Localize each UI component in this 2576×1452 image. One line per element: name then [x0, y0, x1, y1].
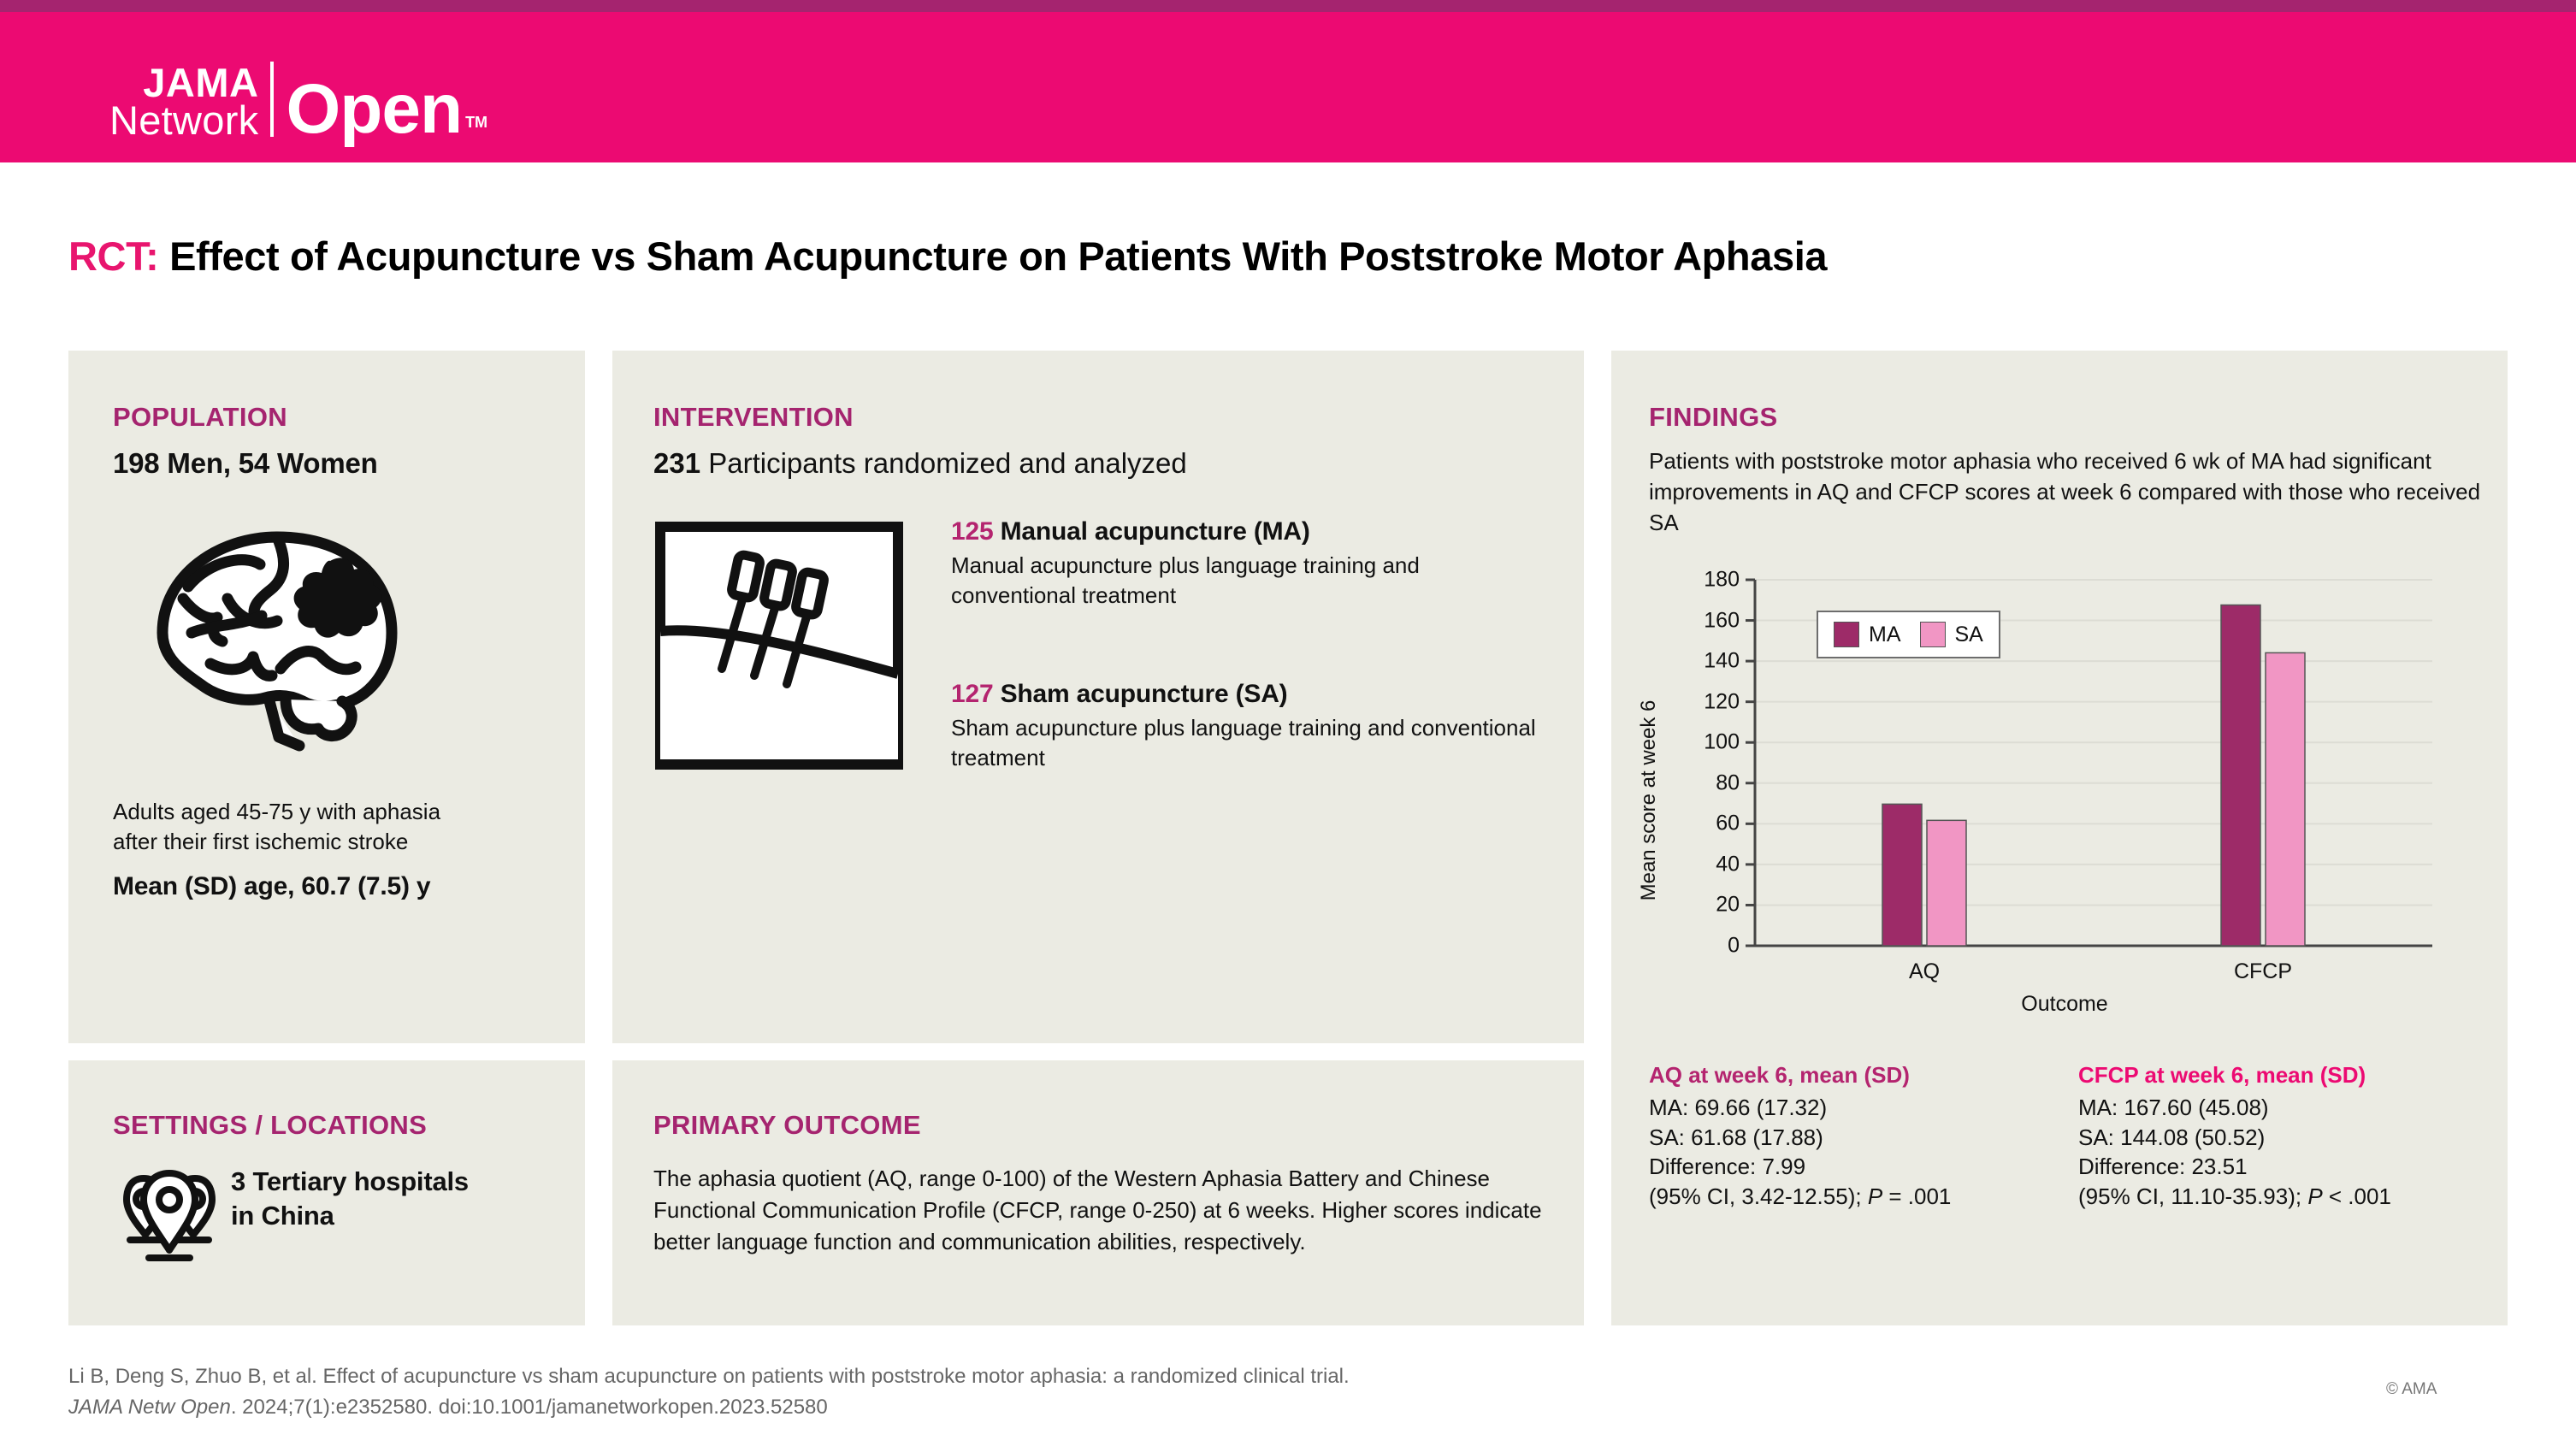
population-kicker: POPULATION: [113, 402, 287, 433]
copyright-notice: © AMA: [2386, 1380, 2437, 1399]
y-tick-label: 80: [1654, 770, 1740, 795]
stats-aq-ma: MA: 69.66 (17.32): [1649, 1093, 2077, 1123]
bar-sa-cfcp: [2266, 652, 2305, 946]
infographic-root: JAMA Network Open TM RCT: Effect of Acup…: [0, 0, 2576, 1452]
logo-jama-text: JAMA: [143, 64, 258, 103]
title-rct-label: RCT:: [68, 233, 158, 279]
arm-sa-name: Sham acupuncture (SA): [993, 680, 1287, 708]
citation-journal-name: JAMA Netw Open: [68, 1396, 231, 1419]
jama-header-bar: JAMA Network Open TM: [0, 12, 2576, 162]
legend-label-sa: SA: [1955, 623, 1983, 647]
intervention-participant-label: Participants randomized and analyzed: [700, 447, 1187, 479]
findings-kicker: FINDINGS: [1649, 402, 1778, 433]
y-tick-label: 120: [1654, 689, 1740, 714]
arm-ma-name: Manual acupuncture (MA): [993, 517, 1309, 546]
y-axis-label: Mean score at week 6: [1637, 700, 1661, 901]
bar-ma-cfcp: [2221, 605, 2260, 946]
stats-aq-p-value: = .001: [1882, 1183, 1951, 1209]
settings-kicker: SETTINGS / LOCATIONS: [113, 1110, 427, 1141]
primary-outcome-kicker: PRIMARY OUTCOME: [653, 1110, 921, 1141]
stats-cfcp-ma: MA: 167.60 (45.08): [2078, 1093, 2506, 1123]
intervention-arm-sa: 127 Sham acupuncture (SA) Sham acupunctu…: [951, 680, 1541, 772]
logo-trademark-text: TM: [465, 114, 487, 132]
intervention-participants: 231 Participants randomized and analyzed: [653, 447, 1187, 480]
x-axis-label: Outcome: [1654, 992, 2475, 1017]
intervention-arm-ma: 125 Manual acupuncture (MA) Manual acupu…: [951, 517, 1541, 610]
population-mean-age: Mean (SD) age, 60.7 (7.5) y: [113, 872, 430, 901]
x-tick-label-aq: AQ: [1909, 959, 1940, 984]
arm-sa-description: Sham acupuncture plus language training …: [951, 713, 1541, 772]
y-tick-label: 180: [1654, 568, 1740, 593]
logo-open-text: Open: [286, 79, 462, 140]
stats-cfcp-difference: Difference: 23.51: [2078, 1152, 2506, 1182]
map-pin-group-icon: [118, 1161, 221, 1277]
findings-panel: FINDINGS Patients with poststroke motor …: [1611, 351, 2508, 1325]
stats-aq-p-symbol: P: [1868, 1183, 1882, 1209]
arm-ma-count: 125: [951, 517, 993, 546]
logo-divider: [270, 62, 274, 137]
brain-with-lesion-icon: [109, 505, 434, 782]
stats-cfcp-p-symbol: P: [2307, 1183, 2322, 1209]
y-tick-label: 140: [1654, 649, 1740, 674]
intervention-participant-count: 231: [653, 447, 700, 479]
stats-cfcp-ci-text: (95% CI, 11.10-35.93);: [2078, 1183, 2307, 1209]
y-tick-label: 40: [1654, 852, 1740, 877]
legend-swatch-sa: [1920, 622, 1946, 647]
logo-network-text: Network: [109, 102, 258, 140]
stats-aq-heading: AQ at week 6, mean (SD): [1649, 1060, 2077, 1090]
population-count: 198 Men, 54 Women: [113, 447, 378, 480]
y-tick-label: 100: [1654, 730, 1740, 755]
mean-score-bar-chart: 020406080100120140160180AQCFCPMean score…: [1654, 564, 2475, 1026]
y-tick-label: 160: [1654, 608, 1740, 633]
chart-legend: MASA: [1817, 611, 2000, 658]
bar-ma-aq: [1882, 804, 1922, 946]
legend-item-ma: MA: [1834, 622, 1901, 647]
citation: Li B, Deng S, Zhuo B, et al. Effect of a…: [68, 1361, 1350, 1423]
jama-network-open-logo[interactable]: JAMA Network Open TM: [109, 62, 487, 140]
chart-canvas: 020406080100120140160180AQCFCPMean score…: [1654, 564, 2475, 1026]
intervention-kicker: INTERVENTION: [653, 402, 854, 433]
y-tick-label: 20: [1654, 893, 1740, 918]
legend-swatch-ma: [1834, 622, 1859, 647]
stats-aq-sa: SA: 61.68 (17.88): [1649, 1123, 2077, 1153]
bar-sa-aq: [1927, 820, 1966, 946]
stats-aq-difference: Difference: 7.99: [1649, 1152, 2077, 1182]
stats-cfcp-sa: SA: 144.08 (50.52): [2078, 1123, 2506, 1153]
settings-locations-panel: SETTINGS / LOCATIONS 3 Tertiary hospital…: [68, 1060, 585, 1325]
stats-aq-ci-text: (95% CI, 3.42-12.55);: [1649, 1183, 1868, 1209]
arm-ma-heading: 125 Manual acupuncture (MA): [951, 517, 1541, 546]
stats-cfcp: CFCP at week 6, mean (SD) MA: 167.60 (45…: [2078, 1060, 2506, 1212]
y-tick-label: 0: [1654, 934, 1740, 959]
arm-sa-count: 127: [951, 680, 993, 708]
acupuncture-needles-icon: [655, 522, 903, 774]
settings-text: 3 Tertiary hospitals in China: [231, 1165, 469, 1232]
population-panel: POPULATION 198 Men, 54 Women: [68, 351, 585, 1043]
findings-lead-text: Patients with poststroke motor aphasia w…: [1649, 446, 2487, 539]
title-main-text: Effect of Acupuncture vs Sham Acupunctur…: [169, 233, 1827, 279]
stats-aq-ci: (95% CI, 3.42-12.55); P = .001: [1649, 1182, 2077, 1212]
citation-line-1: Li B, Deng S, Zhuo B, et al. Effect of a…: [68, 1361, 1350, 1392]
primary-outcome-body: The aphasia quotient (AQ, range 0-100) o…: [653, 1163, 1550, 1258]
legend-item-sa: SA: [1920, 622, 1983, 647]
stats-cfcp-ci: (95% CI, 11.10-35.93); P < .001: [2078, 1182, 2506, 1212]
chart-svg: [1654, 564, 2475, 1026]
arm-ma-description: Manual acupuncture plus language trainin…: [951, 551, 1541, 610]
legend-label-ma: MA: [1869, 623, 1901, 647]
y-tick-label: 60: [1654, 812, 1740, 836]
stats-cfcp-heading: CFCP at week 6, mean (SD): [2078, 1060, 2506, 1090]
citation-doi: . 2024;7(1):e2352580. doi:10.1001/jamane…: [231, 1396, 828, 1419]
intervention-panel: INTERVENTION 231 Participants randomized…: [612, 351, 1584, 1043]
primary-outcome-panel: PRIMARY OUTCOME The aphasia quotient (AQ…: [612, 1060, 1584, 1325]
logo-jama-network: JAMA Network: [109, 64, 258, 140]
page-title: RCT: Effect of Acupuncture vs Sham Acupu…: [68, 233, 1827, 280]
stats-cfcp-p-value: < .001: [2323, 1183, 2391, 1209]
x-tick-label-cfcp: CFCP: [2234, 959, 2292, 984]
top-accent-bar: [0, 0, 2576, 12]
stats-aq: AQ at week 6, mean (SD) MA: 69.66 (17.32…: [1649, 1060, 2077, 1212]
population-note: Adults aged 45-75 y with aphasia after t…: [113, 797, 440, 856]
citation-line-2: JAMA Netw Open. 2024;7(1):e2352580. doi:…: [68, 1392, 1350, 1423]
arm-sa-heading: 127 Sham acupuncture (SA): [951, 680, 1541, 709]
